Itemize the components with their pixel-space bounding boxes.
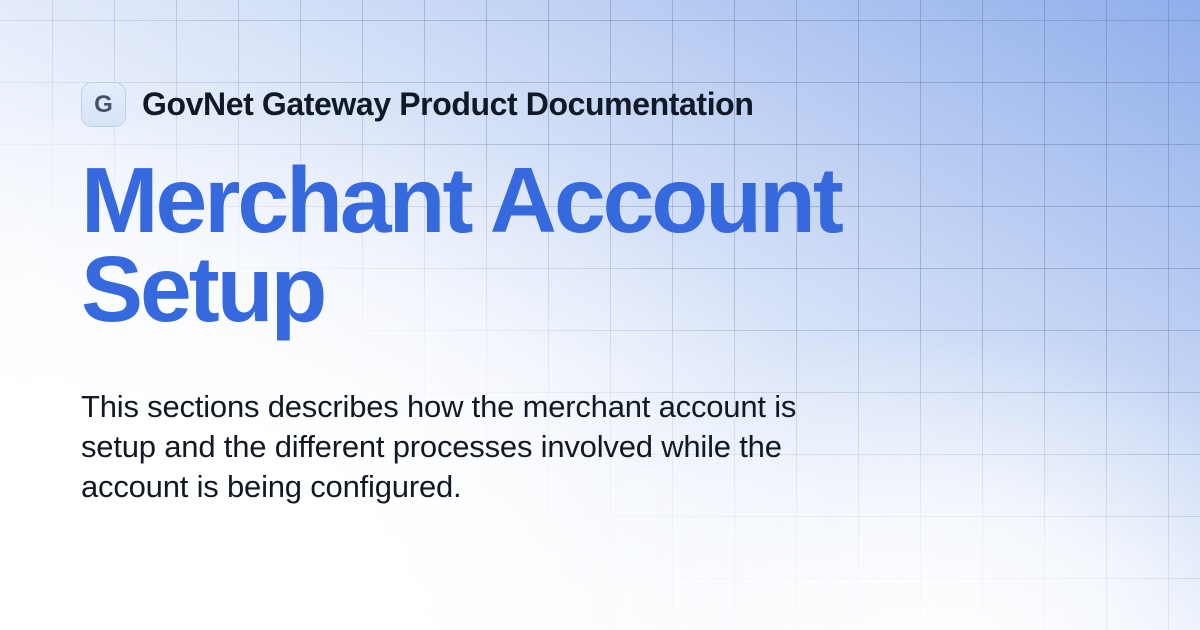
brand-badge-letter: G	[94, 93, 113, 117]
hero-content: G GovNet Gateway Product Documentation M…	[81, 0, 1121, 630]
page-title: Merchant Account Setup	[81, 156, 981, 335]
documentation-hero-banner: G GovNet Gateway Product Documentation M…	[0, 0, 1200, 630]
govnet-logo-badge-icon: G	[81, 82, 126, 127]
brand-row: G GovNet Gateway Product Documentation	[81, 81, 753, 128]
page-description: This sections describes how the merchant…	[81, 387, 871, 507]
brand-title: GovNet Gateway Product Documentation	[142, 86, 753, 123]
